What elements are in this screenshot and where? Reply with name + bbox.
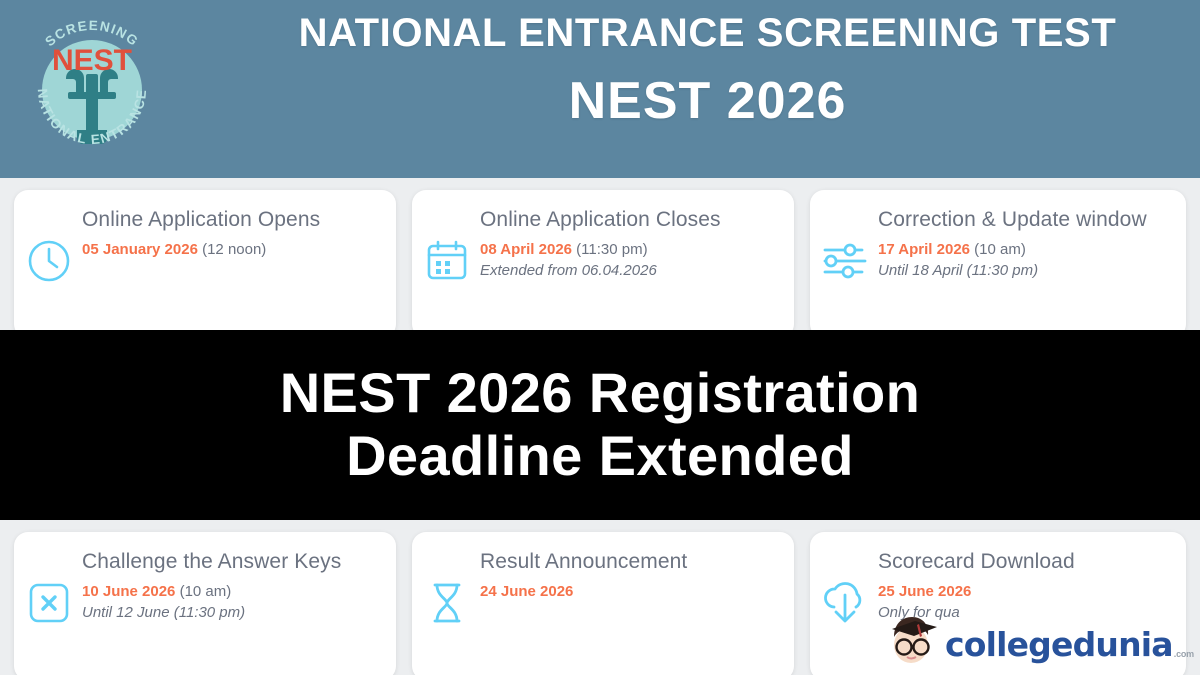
- card-note: Extended from 06.04.2026: [480, 260, 778, 282]
- header-title-line1: NATIONAL ENTRANCE SCREENING TEST: [225, 8, 1190, 58]
- card-date: 05 January 2026: [82, 241, 198, 258]
- card-date-line: 10 June 2026 (10 am): [82, 581, 380, 603]
- card-date-line: 05 January 2026 (12 noon): [82, 239, 380, 261]
- header-title-block: NATIONAL ENTRANCE SCREENING TEST NEST 20…: [225, 8, 1190, 136]
- card-date: 08 April 2026: [480, 241, 572, 258]
- svg-text:NEST: NEST: [52, 44, 132, 77]
- hourglass-icon: [420, 576, 474, 630]
- card-date-line: 17 April 2026 (10 am): [878, 239, 1170, 261]
- headline-line1: NEST 2026 Registration: [280, 362, 921, 425]
- x-box-icon: [22, 576, 76, 630]
- collegedunia-watermark: collegedunia .com: [881, 607, 1194, 669]
- card-title: Result Announcement: [480, 548, 778, 576]
- headline-line2: Deadline Extended: [346, 425, 854, 488]
- card-date-line: 24 June 2026: [480, 581, 778, 603]
- timeline-card-correction-window[interactable]: Correction & Update window 17 April 2026…: [810, 190, 1186, 338]
- card-date: 24 June 2026: [480, 583, 573, 600]
- card-time: (12 noon): [202, 241, 266, 258]
- card-title: Scorecard Download: [878, 548, 1170, 576]
- card-date-line: 25 June 2026: [878, 581, 1170, 603]
- poster-root: NEST SCREENING NATIONAL ENTRANCE NATIONA…: [0, 0, 1200, 675]
- timeline-card-result-announcement[interactable]: Result Announcement 24 June 2026: [412, 532, 794, 675]
- nest-logo: NEST SCREENING NATIONAL ENTRANCE: [14, 12, 170, 168]
- headline-banner: NEST 2026 Registration Deadline Extended: [0, 330, 1200, 520]
- timeline-card-challenge-answer-keys[interactable]: Challenge the Answer Keys 10 June 2026 (…: [14, 532, 396, 675]
- card-title: Online Application Opens: [82, 206, 380, 234]
- card-date: 10 June 2026: [82, 583, 175, 600]
- card-date: 25 June 2026: [878, 583, 971, 600]
- sliders-icon: [818, 234, 872, 288]
- timeline-card-application-closes[interactable]: Online Application Closes 08 April 2026 …: [412, 190, 794, 338]
- card-time: (10 am): [180, 583, 232, 600]
- card-time: (10 am): [974, 241, 1026, 258]
- card-date: 17 April 2026: [878, 241, 970, 258]
- collegedunia-tld: .com: [1174, 650, 1194, 669]
- card-note: Until 18 April (11:30 pm): [878, 260, 1170, 282]
- graduate-face-icon: [881, 607, 943, 669]
- card-title: Correction & Update window: [878, 206, 1170, 234]
- header-banner: NEST SCREENING NATIONAL ENTRANCE NATIONA…: [0, 0, 1200, 178]
- timeline-card-application-opens[interactable]: Online Application Opens 05 January 2026…: [14, 190, 396, 338]
- card-title: Challenge the Answer Keys: [82, 548, 380, 576]
- card-note: Until 12 June (11:30 pm): [82, 602, 380, 624]
- card-title: Online Application Closes: [480, 206, 778, 234]
- header-title-line2: NEST 2026: [225, 68, 1190, 136]
- calendar-icon: [420, 234, 474, 288]
- collegedunia-wordmark: collegedunia: [945, 628, 1173, 669]
- nest-logo-icon: NEST SCREENING NATIONAL ENTRANCE: [14, 12, 170, 168]
- card-time: (11:30 pm): [576, 241, 647, 258]
- clock-icon: [22, 234, 76, 288]
- cloud-download-icon: [818, 576, 872, 630]
- card-date-line: 08 April 2026 (11:30 pm): [480, 239, 778, 261]
